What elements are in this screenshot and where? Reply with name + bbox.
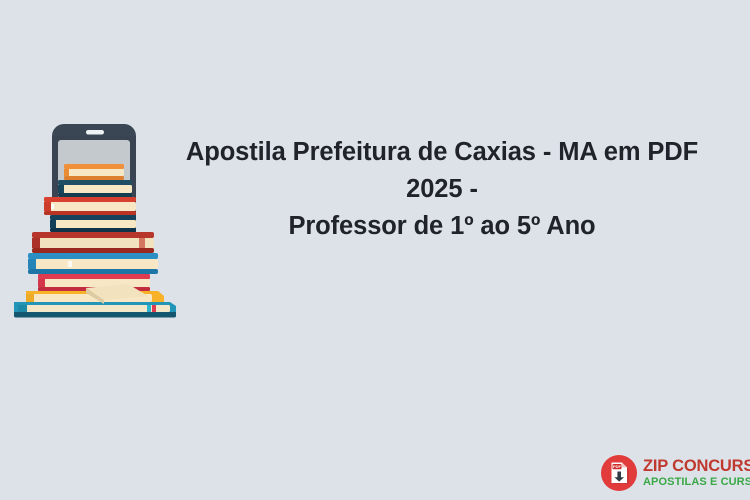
book-navy-2 [50,215,136,232]
logo-secondary-text: APOSTILAS E CURSOS [643,477,750,488]
brand-logo[interactable]: PDF ZIP CONCURSOS APOSTILAS E CURSOS [600,452,748,494]
book-top-orange [64,164,124,180]
book-navy-1 [58,180,132,197]
book-red-1 [44,197,136,215]
book-base-teal-row [14,302,176,318]
svg-text:PDF: PDF [613,464,622,469]
logo-wordmark: ZIP CONCURSOS APOSTILAS E CURSOS [643,458,750,489]
book-darkred [32,232,154,253]
promotional-banner: Apostila Prefeitura de Caxias - MA em PD… [0,0,750,500]
pdf-download-icon: PDF [600,454,638,492]
page-title: Apostila Prefeitura de Caxias - MA em PD… [168,134,716,245]
book-stack-with-smartphone-illustration [8,118,188,318]
book-blue-1 [28,253,158,274]
title-line-1: Apostila Prefeitura de Caxias - MA em PD… [186,138,698,203]
title-line-2: Professor de 1º ao 5º Ano [288,212,595,240]
title-heading: Apostila Prefeitura de Caxias - MA em PD… [168,134,716,245]
logo-primary-text: ZIP CONCURSOS [643,458,750,475]
